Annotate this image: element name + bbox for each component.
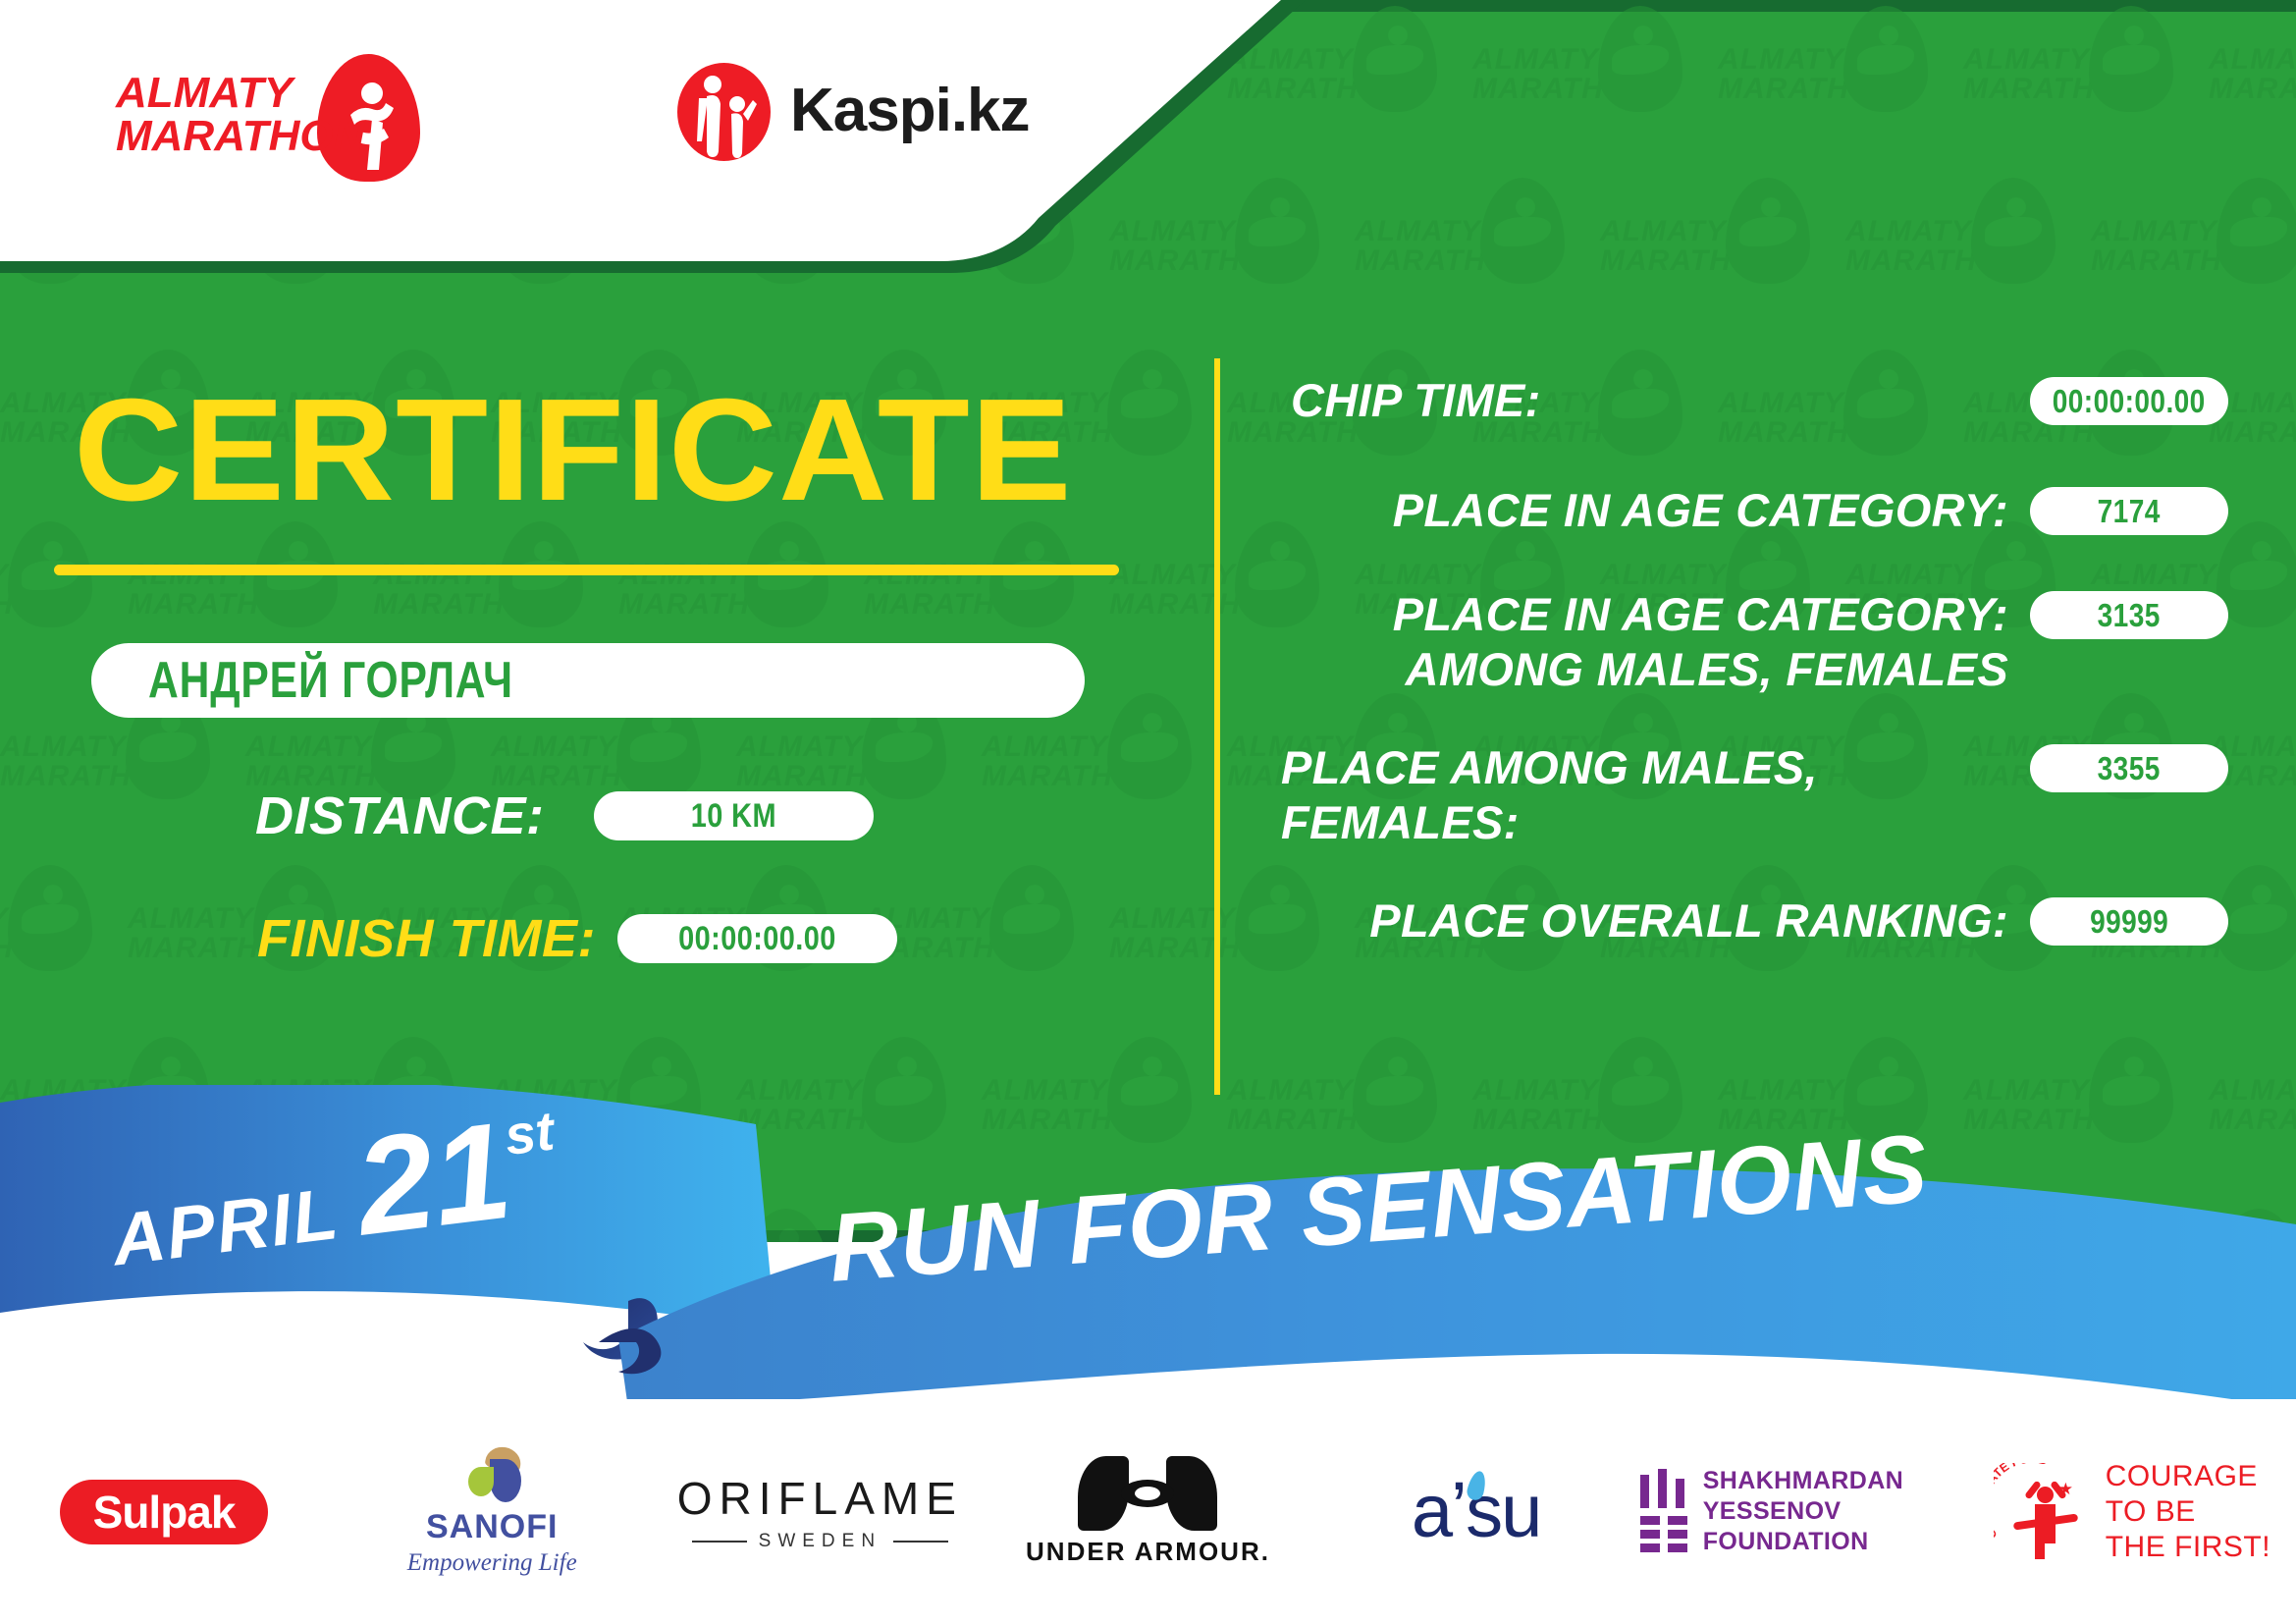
distance-label: DISTANCE: (255, 785, 545, 846)
participant-name-value: АНДРЕЙ ГОРЛАЧ (148, 651, 513, 710)
kaspi-figures-glyph (677, 63, 771, 161)
sanofi-green-leaf-icon (468, 1467, 494, 1496)
watermark-tile: ALMATYMARATHON (864, 859, 1109, 1031)
stat-row-place-in-age-category: PLACE IN AGE CATEGORY: 7174 (1261, 483, 2228, 538)
stat-value: 99999 (2090, 903, 2168, 941)
sulpak-wordmark: Sulpak (93, 1486, 236, 1539)
sulpak-logo: Sulpak (60, 1480, 268, 1544)
courage-line-2: TO BE (2106, 1494, 2270, 1530)
watermark-tile: ALMATYMARATHON (1718, 0, 1963, 172)
finish-time-label: FINISH TIME: (257, 908, 596, 969)
watermark-runner-drop-icon (2216, 865, 2296, 971)
watermark-line-1: ALMATY (1472, 43, 1599, 77)
finish-time-row: FINISH TIME: 00:00:00.00 (257, 908, 897, 969)
watermark-line-1: ALMATY (491, 731, 617, 764)
kaspi-logo: Kaspi.kz (677, 59, 1090, 167)
stat-row-place-overall-ranking: PLACE OVERALL RANKING: 99999 (1261, 893, 2228, 948)
sanofi-blue-shape (490, 1459, 521, 1502)
sponsor-under-armour: UNDER ARMOUR. (984, 1434, 1311, 1591)
courage-wordmark: COURAGE TO BE THE FIRST! (2106, 1459, 2270, 1565)
stat-value-pill: 99999 (2030, 897, 2228, 946)
stats-panel: CHIP TIME: 00:00:00.00 PLACE IN AGE CATE… (1261, 373, 2228, 982)
watermark-line-1: ALMATY (1718, 43, 1844, 77)
almaty-marathon-logo: ALMATY MARATHON (116, 54, 440, 167)
watermark-tile: ALMATYMARATHON (1600, 172, 1845, 344)
stat-label: PLACE OVERALL RANKING: (1261, 893, 2008, 948)
stat-label: PLACE IN AGE CATEGORY: (1261, 483, 2008, 538)
yessenov-foundation-logo: SHAKHMARDAN YESSENOV FOUNDATION (1640, 1466, 1968, 1557)
figure-leg (2035, 1538, 2045, 1559)
distance-row: DISTANCE: 10 KM (255, 785, 874, 846)
sponsor-sulpak: Sulpak (0, 1434, 328, 1591)
stat-label: PLACE IN AGE CATEGORY: AMONG MALES, FEMA… (1261, 587, 2008, 697)
watermark-runner-drop-icon (1107, 693, 1192, 799)
kaspi-wordmark: Kaspi.kz (790, 69, 1030, 153)
column-divider (1214, 358, 1220, 1095)
stat-value: 3355 (2098, 750, 2161, 787)
watermark-tile: ALMATYMARATHON (2091, 172, 2296, 344)
watermark-tile: ALMATYMARATHON (1963, 0, 2209, 172)
sanofi-logo: SANOFI Empowering Life (407, 1447, 577, 1577)
oriflame-tagline: SWEDEN (759, 1531, 881, 1552)
courage-figure-icon: ★ (2023, 1481, 2074, 1557)
watermark-line-1: ALMATY (128, 902, 254, 936)
watermark-line-1: ALMATY (736, 731, 863, 764)
watermark-runner-drop-icon (2216, 178, 2296, 284)
watermark-line-1: ALMATY (1600, 215, 1727, 248)
ua-right-wing (1166, 1456, 1217, 1531)
courage-line-1: COURAGE (2106, 1459, 2270, 1494)
stat-row-chip-time: CHIP TIME: 00:00:00.00 (1261, 373, 2228, 428)
oriflame-tagline-row: SWEDEN (677, 1531, 963, 1552)
participant-name-field: АНДРЕЙ ГОРЛАЧ (91, 643, 1085, 718)
watermark-tile: ALMATYMARATHON (2209, 0, 2296, 172)
stat-value: 00:00:00.00 (2053, 383, 2206, 420)
rule-left (692, 1541, 747, 1543)
stat-value-pill: 3135 (2030, 591, 2228, 639)
sponsor-sanofi: SANOFI Empowering Life (328, 1434, 656, 1591)
watermark-runner-drop-icon (1598, 6, 1682, 112)
watermark-runner-drop-icon (1726, 178, 1810, 284)
stat-value-pill: 00:00:00.00 (2030, 377, 2228, 425)
watermark-runner-drop-icon (2216, 521, 2296, 627)
watermark-tile: ALMATYMARATHON (0, 859, 128, 1031)
event-day-ordinal: st (502, 1098, 558, 1167)
watermark-runner-drop-icon (1843, 6, 1928, 112)
watermark-line-1: ALMATY (0, 731, 127, 764)
watermark-line-1: ALMATY (245, 731, 372, 764)
yessenov-line-1: SHAKHMARDAN YESSENOV (1703, 1466, 1968, 1527)
stat-row-place-among-males-females: PLACE AMONG MALES, FEMALES: 3355 (1261, 740, 2228, 850)
watermark-line-1: ALMATY (1845, 215, 1972, 248)
title-underline-rule (54, 565, 1119, 575)
stat-value: 7174 (2098, 493, 2161, 530)
under-armour-logo: UNDER ARMOUR. (1026, 1456, 1270, 1567)
watermark-runner-drop-icon (1107, 350, 1192, 456)
watermark-line-1: ALMATY (2091, 215, 2217, 248)
distance-value: 10 KM (690, 797, 775, 836)
distance-value-pill: 10 KM (594, 791, 874, 840)
stat-label: CHIP TIME: (1261, 373, 2008, 428)
under-armour-wordmark: UNDER ARMOUR. (1026, 1537, 1270, 1567)
watermark-line-1: ALMATY (1963, 43, 2090, 77)
stat-value: 3135 (2098, 597, 2161, 634)
watermark-tile: ALMATYMARATHON (1472, 0, 1718, 172)
stat-row-place-in-age-category-among: PLACE IN AGE CATEGORY: AMONG MALES, FEMA… (1261, 587, 2228, 697)
sanofi-tagline: Empowering Life (407, 1549, 577, 1577)
watermark-line-2: MARATHON (2209, 73, 2296, 106)
watermark-runner-drop-icon (2089, 6, 2173, 112)
oriflame-logo: ORIFLAME SWEDEN (677, 1472, 963, 1552)
yessenov-bars-icon (1640, 1469, 1685, 1555)
page-title: CERTIFICATE (74, 378, 1073, 523)
stat-value-pill: 3355 (2030, 744, 2228, 792)
courage-fund-logo: CORPORATE FUND ★ COURAGE T (1994, 1459, 2270, 1565)
watermark-runner-drop-icon (8, 865, 92, 971)
sponsor-logos-bar: Sulpak SANOFI Empowering Life ORIFLAME S… (0, 1399, 2296, 1624)
almaty-marathon-wordmark: ALMATY MARATHON (116, 72, 364, 158)
stat-value-pill: 7174 (2030, 487, 2228, 535)
watermark-runner-drop-icon (1480, 178, 1565, 284)
yessenov-line-2: FOUNDATION (1703, 1527, 1968, 1557)
watermark-tile: ALMATYMARATHON (1845, 172, 2091, 344)
sponsor-oriflame: ORIFLAME SWEDEN (656, 1434, 984, 1591)
finish-time-value-pill: 00:00:00.00 (617, 914, 897, 963)
kaspi-family-icon (677, 63, 771, 161)
almaty-line: ALMATY (116, 72, 364, 115)
asu-logo: aʼsu (1412, 1475, 1540, 1549)
oriflame-wordmark: ORIFLAME (677, 1472, 963, 1525)
sponsor-asu: aʼsu (1312, 1434, 1640, 1591)
courage-runner-icon: CORPORATE FUND ★ (1994, 1463, 2092, 1561)
courage-line-3: THE FIRST! (2106, 1530, 2270, 1565)
finish-time-value: 00:00:00.00 (678, 920, 836, 958)
sponsor-yessenov-foundation: SHAKHMARDAN YESSENOV FOUNDATION (1640, 1434, 1968, 1591)
watermark-runner-drop-icon (1971, 178, 2056, 284)
event-month: APRIL (108, 1171, 345, 1282)
under-armour-u-icon (1078, 1456, 1217, 1531)
yessenov-wordmark: SHAKHMARDAN YESSENOV FOUNDATION (1703, 1466, 1968, 1557)
rule-right (893, 1541, 948, 1543)
certificate-page: ALMATYMARATHONALMATYMARATHONALMATYMARATH… (0, 0, 2296, 1624)
figure-head (2037, 1487, 2054, 1503)
sanofi-wordmark: SANOFI (407, 1508, 577, 1546)
event-day: 21 (347, 1091, 518, 1268)
stat-label: PLACE AMONG MALES, FEMALES: (1261, 740, 2008, 850)
watermark-line-1: ALMATY (982, 731, 1108, 764)
sanofi-mark-icon (460, 1447, 523, 1504)
marathon-line: MARATHON (116, 115, 364, 158)
watermark-runner-drop-icon (989, 865, 1074, 971)
sponsor-courage-to-be-the-first: CORPORATE FUND ★ COURAGE T (1968, 1434, 2296, 1591)
watermark-line-1: ALMATY (2209, 43, 2296, 77)
